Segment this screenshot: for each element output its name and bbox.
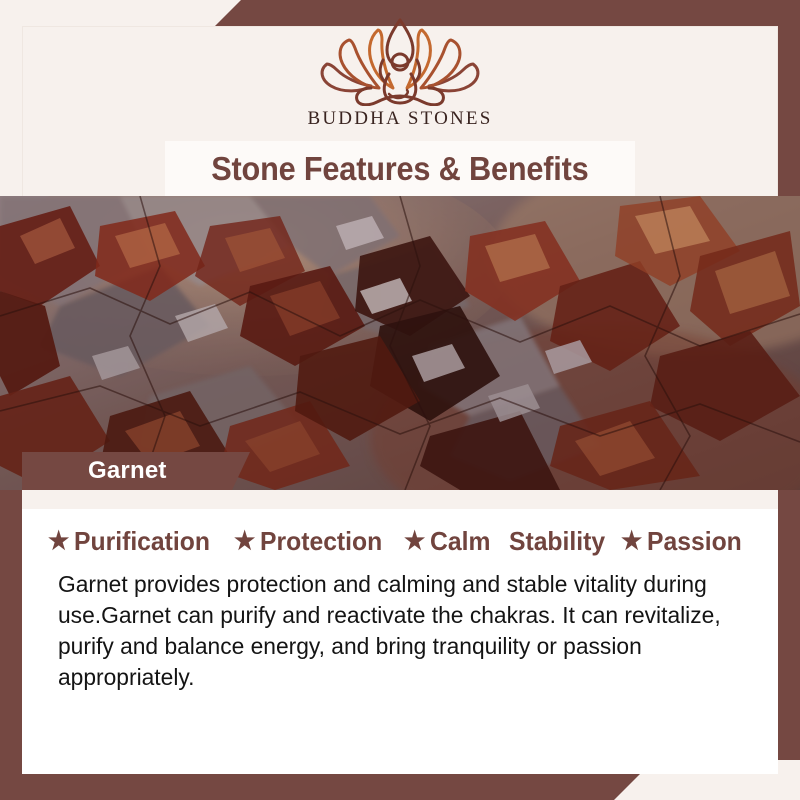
title-banner: Stone Features & Benefits xyxy=(165,141,635,196)
brand-logo: BUDDHA STONES xyxy=(0,18,800,143)
brand-name: BUDDHA STONES xyxy=(307,108,492,130)
hero-image xyxy=(0,196,800,490)
feature-label: Protection xyxy=(260,526,382,557)
feature-label: Calm xyxy=(430,526,490,557)
cream-divider-strip xyxy=(22,490,778,509)
feature-label: Stability xyxy=(509,526,605,557)
page-title: Stone Features & Benefits xyxy=(211,150,588,188)
star-icon: ★ xyxy=(234,529,255,554)
feature-item-stability: Stability xyxy=(509,526,605,557)
frame-border-bottom xyxy=(0,774,640,800)
feature-label: Purification xyxy=(74,526,210,557)
feature-item-purification: ★ Purification xyxy=(48,526,210,557)
star-icon: ★ xyxy=(621,529,642,554)
content-card: ★ Purification ★ Protection ★ Calm Stabi… xyxy=(22,509,778,774)
lotus-meditation-icon xyxy=(315,18,485,106)
garnet-crystal-photo xyxy=(0,196,800,490)
feature-item-passion: ★ Passion xyxy=(621,526,742,557)
feature-list: ★ Purification ★ Protection ★ Calm Stabi… xyxy=(48,526,768,557)
star-icon: ★ xyxy=(404,529,425,554)
stone-name-tab: Garnet xyxy=(22,452,250,490)
feature-item-calm: ★ Calm xyxy=(404,526,490,557)
stone-description: Garnet provides protection and calming a… xyxy=(58,569,721,693)
feature-item-protection: ★ Protection xyxy=(234,526,382,557)
infographic-page: BUDDHA STONES Stone Features & Benefits xyxy=(0,0,800,800)
star-icon: ★ xyxy=(48,529,69,554)
stone-name-label: Garnet xyxy=(88,457,167,485)
feature-label: Passion xyxy=(647,526,742,557)
